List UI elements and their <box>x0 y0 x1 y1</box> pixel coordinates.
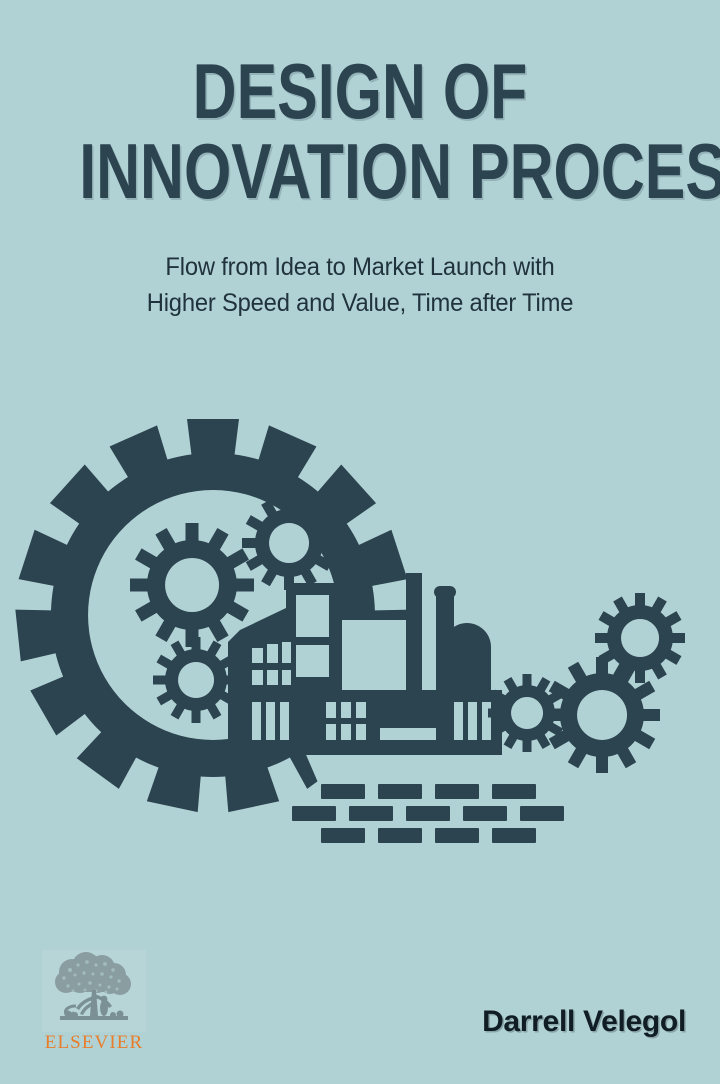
subtitle-line-1: Flow from Idea to Market Launch with <box>18 250 702 286</box>
outer-gear-top-right <box>595 593 685 683</box>
book-cover: DESIGN OF INNOVATION PROCESSES Flow from… <box>0 0 720 1084</box>
gears-and-factory-illustration <box>0 380 720 880</box>
inner-gear-large <box>130 523 254 647</box>
publisher-logo: ELSEVIER <box>42 950 146 1052</box>
author-name: Darrell Velegol <box>482 1005 686 1039</box>
subtitle-line-2: Higher Speed and Value, Time after Time <box>18 286 702 322</box>
elsevier-tree-emblem <box>42 950 146 1032</box>
title-line-2: INNOVATION PROCESSES <box>79 134 641 210</box>
subtitle: Flow from Idea to Market Launch with Hig… <box>0 250 720 321</box>
page-title: DESIGN OF INNOVATION PROCESSES <box>0 54 720 209</box>
publisher-wordmark: ELSEVIER <box>42 1033 146 1052</box>
inner-gear-small-bottom <box>153 637 239 723</box>
title-line-1: DESIGN OF <box>79 54 641 130</box>
brick-pattern <box>292 784 564 843</box>
